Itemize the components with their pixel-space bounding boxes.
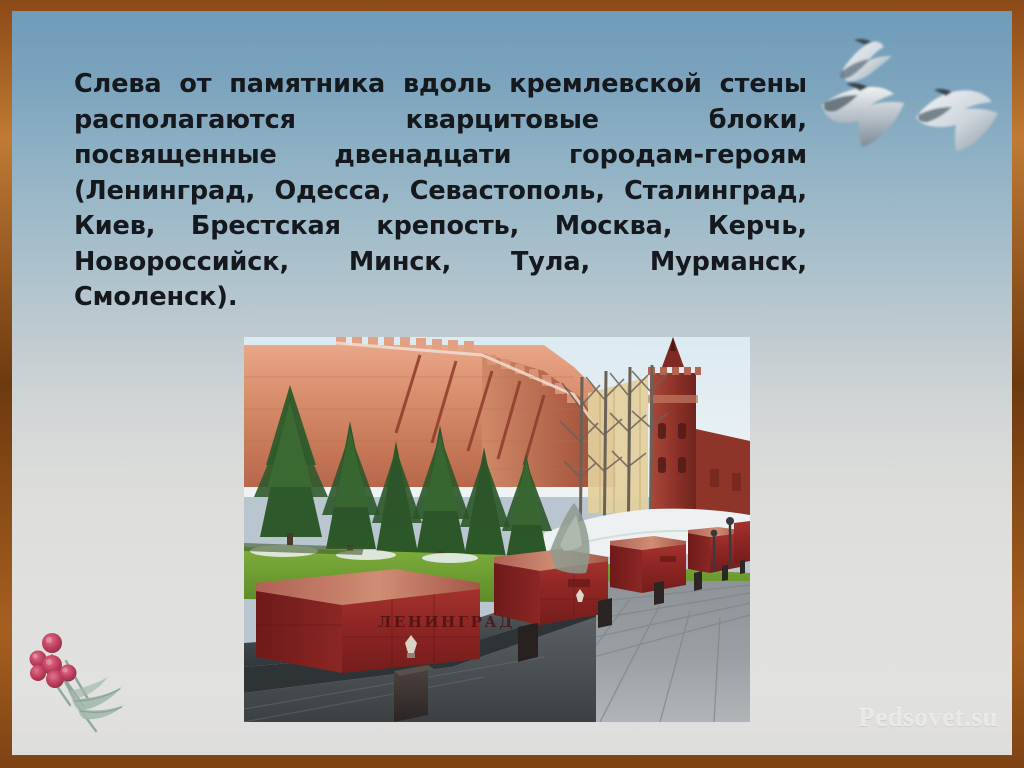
block-inscription-text: ЛЕНИНГРАД: [378, 613, 515, 631]
carnation-sprig-decoration: [22, 621, 142, 741]
slide-body-text: Слева от памятника вдоль кремлевской сте…: [74, 67, 807, 351]
flower-icon: [22, 621, 142, 741]
memorial-block-leningrad: ЛЕНИНГРАД: [256, 569, 515, 673]
photo-kremlin-hero-city-blocks: ЛЕНИНГРАД: [244, 337, 750, 722]
bird-2: [822, 83, 904, 151]
photo-illustration: ЛЕНИНГРАД: [244, 337, 750, 722]
site-watermark: Pedsovet.su: [858, 702, 998, 733]
slide-canvas: Слева от памятника вдоль кремлевской сте…: [12, 11, 1012, 755]
bird-3: [916, 89, 998, 159]
flying-birds-group: [810, 29, 1010, 174]
flower-blossoms: [30, 633, 77, 688]
bird-1: [840, 39, 892, 81]
birds-icon: [810, 29, 1010, 174]
memorial-block-5: [734, 521, 750, 564]
memorial-block-3: [610, 536, 686, 593]
slide-frame: Слева от памятника вдоль кремлевской сте…: [0, 0, 1024, 768]
photo-frame: ЛЕНИНГРАД: [244, 337, 750, 722]
memorial-block-2: [494, 549, 608, 625]
